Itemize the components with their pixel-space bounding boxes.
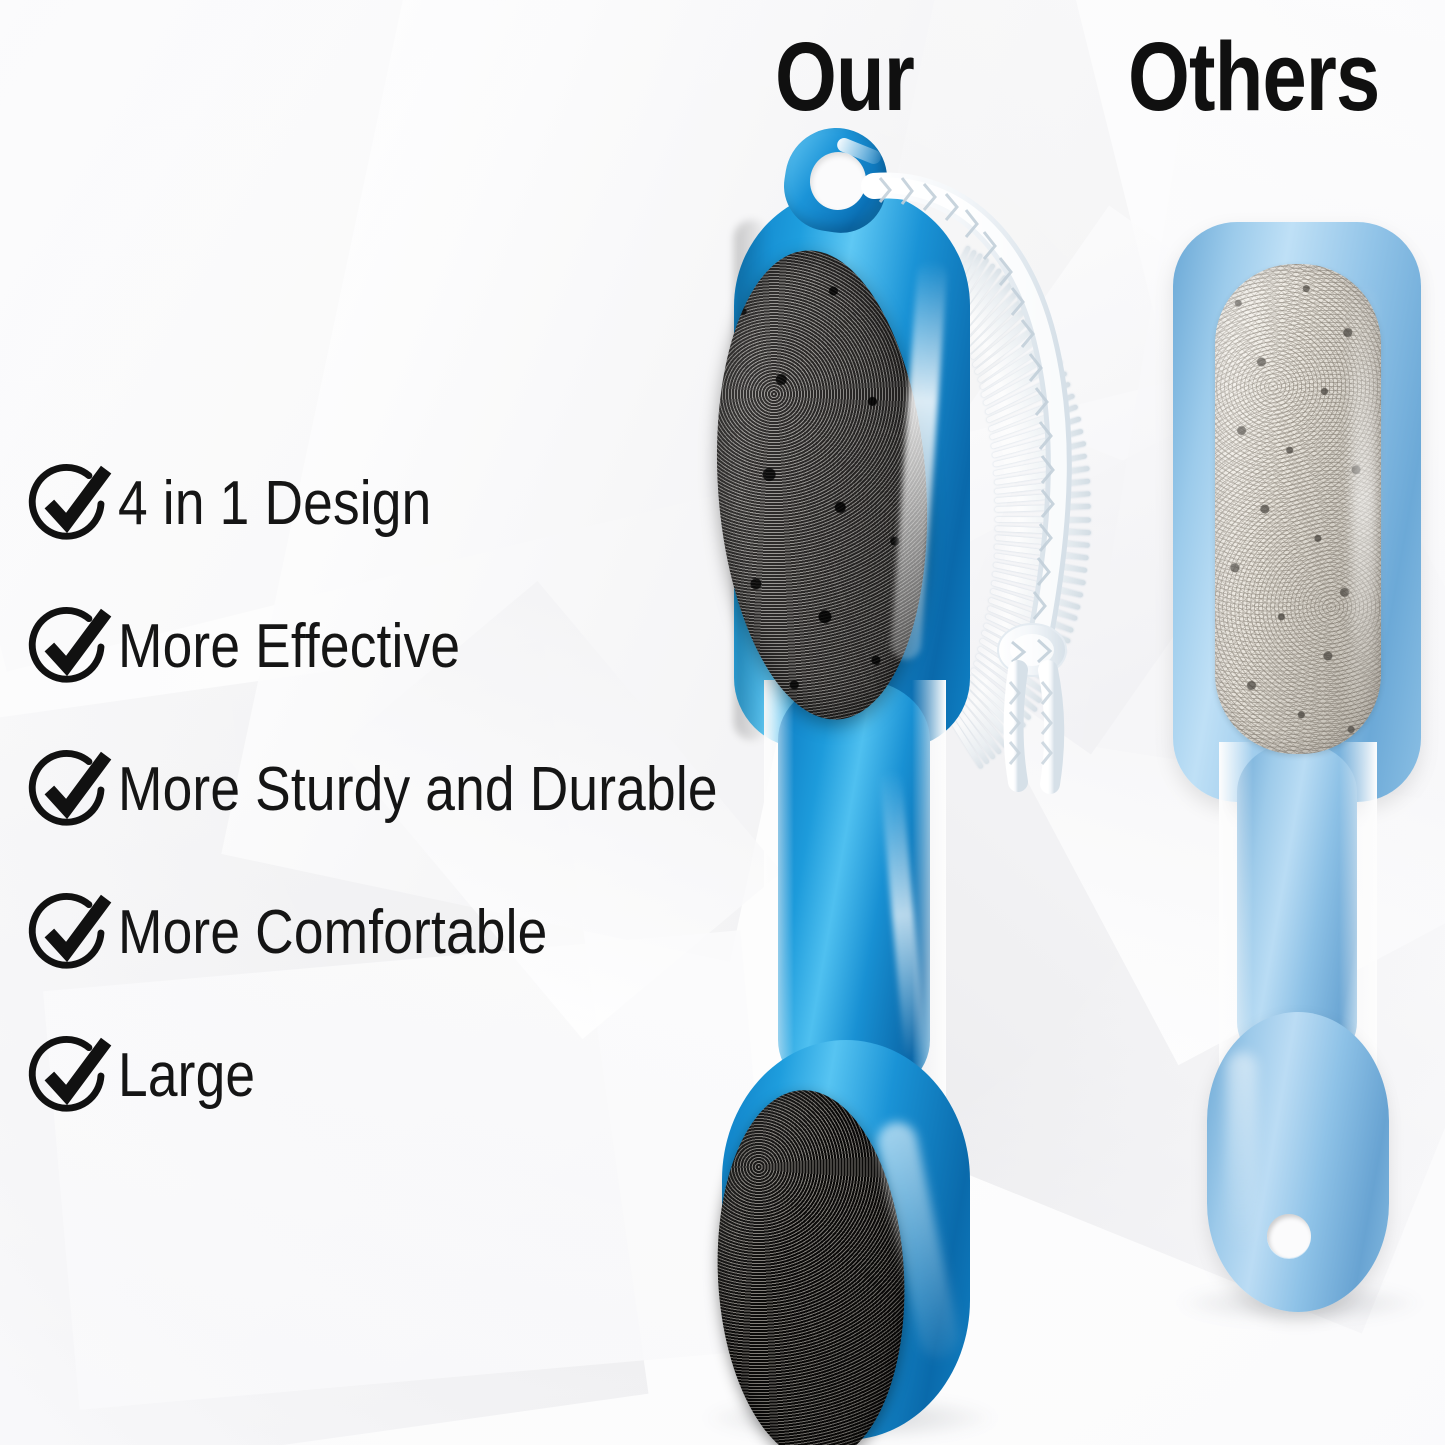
other-product-image bbox=[1165, 222, 1445, 1312]
other-highlight-lower bbox=[1227, 1052, 1257, 1252]
check-circle-icon bbox=[30, 900, 96, 966]
our-product-image bbox=[660, 110, 1080, 1445]
other-highlight-upper bbox=[1351, 282, 1377, 722]
column-header-others: Others bbox=[1128, 28, 1379, 125]
rope-cord bbox=[866, 158, 1096, 798]
hanging-hole bbox=[1267, 1214, 1311, 1258]
feature-label: 4 in 1 Design bbox=[118, 473, 431, 535]
check-circle-icon bbox=[30, 614, 96, 680]
check-circle-icon bbox=[30, 471, 96, 537]
check-circle-icon bbox=[30, 1043, 96, 1109]
feature-label: More Comfortable bbox=[118, 902, 547, 964]
feature-label: More Sturdy and Durable bbox=[118, 759, 718, 821]
feature-label: Large bbox=[118, 1045, 255, 1107]
check-circle-icon bbox=[30, 757, 96, 823]
comparison-infographic: Our Others 4 in 1 Design More Effective bbox=[0, 0, 1445, 1445]
feature-label: More Effective bbox=[118, 616, 460, 678]
